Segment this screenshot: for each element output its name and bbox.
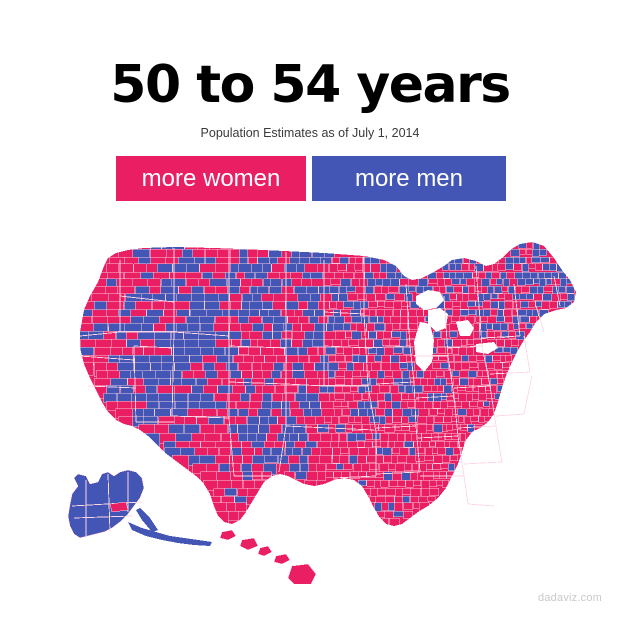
county-cell[interactable]	[460, 279, 466, 284]
county-cell[interactable]	[546, 279, 552, 285]
county-cell[interactable]	[343, 301, 353, 307]
county-cell[interactable]	[285, 448, 293, 456]
county-cell[interactable]	[488, 316, 496, 323]
county-cell[interactable]	[447, 424, 453, 430]
county-cell[interactable]	[404, 441, 413, 447]
county-cell[interactable]	[419, 409, 429, 417]
legend-item-more-men[interactable]: more men	[312, 156, 506, 201]
county-cell[interactable]	[513, 257, 520, 264]
county-cell[interactable]	[560, 279, 566, 287]
county-cell[interactable]	[467, 301, 475, 307]
county-cell[interactable]	[543, 264, 549, 270]
county-cell[interactable]	[303, 448, 312, 455]
county-cell[interactable]	[544, 286, 553, 292]
county-cell[interactable]	[372, 363, 381, 371]
county-cell[interactable]	[402, 416, 409, 423]
county-cell[interactable]	[452, 310, 460, 317]
county-cell[interactable]	[393, 416, 402, 422]
county-cell[interactable]	[426, 416, 434, 424]
county-cell[interactable]	[517, 279, 525, 286]
county-cell[interactable]	[242, 294, 253, 302]
county-cell[interactable]	[539, 249, 546, 255]
county-cell[interactable]	[251, 393, 264, 402]
county-cell[interactable]	[378, 316, 384, 322]
county-cell[interactable]	[362, 424, 372, 433]
legend-item-more-women[interactable]: more women	[116, 156, 306, 201]
county-cell[interactable]	[311, 448, 320, 456]
county-cell[interactable]	[329, 355, 336, 362]
county-cell[interactable]	[511, 249, 520, 256]
county-cell[interactable]	[468, 310, 476, 315]
county-cell[interactable]	[336, 331, 345, 340]
county-cell[interactable]	[424, 371, 431, 378]
county-cell[interactable]	[415, 448, 424, 454]
county-cell[interactable]	[490, 378, 497, 384]
county-cell[interactable]	[452, 316, 460, 321]
county-cell[interactable]	[382, 503, 389, 511]
county-cell[interactable]	[462, 401, 470, 409]
county-cell[interactable]	[249, 331, 262, 340]
county-cell[interactable]	[438, 448, 446, 455]
county-cell[interactable]	[475, 279, 482, 287]
county-cell[interactable]	[278, 416, 286, 424]
county-cell[interactable]	[434, 472, 440, 479]
county-cell[interactable]	[540, 257, 549, 262]
county-cell[interactable]	[417, 416, 426, 423]
county-cell[interactable]	[413, 503, 419, 509]
county-cell[interactable]	[481, 316, 488, 321]
county-cell[interactable]	[440, 464, 448, 469]
county-cell[interactable]	[493, 355, 501, 361]
county-cell[interactable]	[386, 416, 393, 423]
county-cell[interactable]	[321, 401, 334, 409]
county-cell[interactable]	[500, 323, 508, 330]
county-cell[interactable]	[340, 448, 349, 454]
county-cell[interactable]	[381, 363, 390, 371]
county-cell[interactable]	[437, 385, 443, 391]
county-cell[interactable]	[455, 272, 463, 279]
county-cell[interactable]	[527, 294, 534, 299]
county-cell[interactable]	[371, 264, 381, 273]
county-cell[interactable]	[495, 331, 501, 339]
county-cell[interactable]	[460, 433, 466, 441]
county-cell[interactable]	[491, 301, 498, 308]
county-cell[interactable]	[426, 424, 432, 430]
county-cell[interactable]	[379, 272, 386, 279]
county-cell[interactable]	[361, 310, 370, 316]
county-cell[interactable]	[461, 339, 467, 345]
county-cell[interactable]	[522, 264, 528, 272]
county-cell[interactable]	[284, 323, 293, 330]
county-cell[interactable]	[490, 279, 497, 285]
county-cell[interactable]	[330, 301, 336, 308]
county-cell[interactable]	[497, 339, 504, 346]
county-cell[interactable]	[408, 323, 417, 329]
county-cell[interactable]	[326, 464, 336, 470]
county-cell[interactable]	[326, 472, 333, 478]
county-cell[interactable]	[424, 385, 432, 391]
county-cell[interactable]	[292, 323, 301, 331]
county-cell[interactable]	[344, 316, 351, 323]
county-cell[interactable]	[466, 385, 473, 391]
county-cell[interactable]	[459, 393, 466, 401]
county-cell[interactable]	[428, 378, 435, 385]
county-cell[interactable]	[225, 488, 237, 495]
county-cell[interactable]	[350, 409, 358, 418]
county-cell[interactable]	[449, 264, 456, 270]
county-cell[interactable]	[539, 279, 546, 287]
county-cell[interactable]	[497, 378, 503, 383]
county-cell[interactable]	[467, 339, 474, 344]
county-cell[interactable]	[463, 294, 469, 301]
county-cell[interactable]	[388, 433, 398, 442]
county-cell[interactable]	[498, 264, 506, 271]
county-cell[interactable]	[383, 448, 391, 457]
county-cell[interactable]	[434, 424, 442, 432]
county-cell[interactable]	[334, 323, 344, 330]
county-cell[interactable]	[378, 401, 385, 409]
county-cell[interactable]	[347, 363, 354, 371]
county-cell[interactable]	[359, 339, 366, 347]
county-cell[interactable]	[437, 339, 445, 346]
county-cell[interactable]	[430, 409, 438, 415]
county-cell[interactable]	[491, 385, 497, 393]
county-cell[interactable]	[399, 286, 409, 294]
county-cell[interactable]	[500, 355, 506, 362]
county-cell[interactable]	[432, 363, 441, 369]
county-cell[interactable]	[252, 363, 262, 372]
county-cell[interactable]	[392, 448, 400, 454]
county-cell[interactable]	[386, 294, 395, 300]
county-cell[interactable]	[476, 301, 483, 306]
county-cell[interactable]	[338, 264, 346, 271]
county-cell[interactable]	[328, 378, 335, 385]
county-cell[interactable]	[407, 363, 414, 372]
county-cell[interactable]	[526, 242, 532, 248]
county-cell[interactable]	[288, 455, 300, 464]
county-cell[interactable]	[393, 347, 402, 353]
county-cell[interactable]	[333, 455, 341, 463]
us-map-svg[interactable]	[24, 236, 596, 584]
county-cell[interactable]	[440, 286, 446, 293]
county-cell[interactable]	[530, 286, 538, 293]
county-cell[interactable]	[370, 488, 378, 496]
county-cell[interactable]	[288, 316, 300, 324]
county-cell[interactable]	[382, 286, 389, 294]
county-cell[interactable]	[341, 279, 351, 287]
county-cell[interactable]	[364, 363, 372, 372]
county-cell[interactable]	[336, 464, 344, 470]
county-cell[interactable]	[434, 455, 443, 463]
county-cell[interactable]	[511, 339, 519, 346]
alaska-borough-more-women[interactable]	[110, 502, 128, 512]
county-cell[interactable]	[463, 286, 469, 293]
county-cell[interactable]	[390, 385, 398, 394]
county-cell[interactable]	[437, 347, 446, 353]
county-cell[interactable]	[355, 264, 363, 270]
county-cell[interactable]	[355, 416, 361, 422]
county-cell[interactable]	[372, 385, 380, 393]
county-cell[interactable]	[433, 401, 441, 408]
county-cell[interactable]	[369, 316, 377, 323]
county-cell[interactable]	[388, 503, 394, 511]
county-cell[interactable]	[336, 355, 345, 361]
county-cell[interactable]	[259, 424, 270, 433]
county-cell[interactable]	[455, 355, 462, 361]
county-cell[interactable]	[505, 301, 513, 309]
county-cell[interactable]	[532, 249, 539, 256]
county-cell[interactable]	[349, 339, 359, 345]
county-cell[interactable]	[464, 272, 472, 279]
county-cell[interactable]	[459, 347, 467, 355]
county-cell[interactable]	[395, 294, 405, 301]
county-cell[interactable]	[252, 472, 261, 479]
county-cell[interactable]	[436, 371, 444, 376]
county-cell[interactable]	[505, 294, 513, 301]
county-cell[interactable]	[394, 378, 402, 384]
county-cell[interactable]	[252, 464, 264, 472]
county-cell[interactable]	[366, 294, 375, 302]
county-cell[interactable]	[483, 301, 491, 309]
county-cell[interactable]	[399, 448, 408, 456]
county-cell[interactable]	[349, 257, 356, 265]
county-cell[interactable]	[487, 331, 495, 339]
county-cell[interactable]	[393, 323, 400, 329]
county-cell[interactable]	[473, 409, 480, 416]
county-cell[interactable]	[545, 272, 553, 278]
county-cell[interactable]	[478, 401, 484, 407]
county-cell[interactable]	[380, 264, 387, 273]
county-cell[interactable]	[468, 371, 476, 377]
county-cell[interactable]	[515, 286, 521, 294]
county-cell[interactable]	[399, 355, 407, 362]
county-cell[interactable]	[446, 286, 454, 293]
county-cell[interactable]	[458, 409, 467, 415]
county-cell[interactable]	[374, 339, 383, 347]
county-cell[interactable]	[484, 401, 490, 406]
county-cell[interactable]	[492, 272, 500, 279]
county-cell[interactable]	[472, 393, 479, 399]
county-cell[interactable]	[509, 279, 517, 287]
county-cell[interactable]	[446, 448, 454, 456]
county-cell[interactable]	[314, 323, 326, 332]
county-cell[interactable]	[496, 316, 504, 322]
county-cell[interactable]	[236, 503, 246, 512]
county-cell[interactable]	[350, 472, 359, 479]
county-cell[interactable]	[495, 286, 503, 293]
county-cell[interactable]	[393, 409, 403, 417]
county-cell[interactable]	[328, 371, 335, 378]
county-cell[interactable]	[409, 310, 417, 317]
county-cell[interactable]	[378, 488, 386, 495]
county-cell[interactable]	[336, 301, 343, 310]
county-cell[interactable]	[481, 279, 489, 287]
county-cell[interactable]	[402, 393, 409, 400]
county-cell[interactable]	[519, 294, 527, 299]
county-cell[interactable]	[415, 401, 425, 409]
county-cell[interactable]	[330, 286, 339, 293]
county-cell[interactable]	[441, 363, 449, 369]
county-cell[interactable]	[352, 347, 359, 354]
county-cell[interactable]	[434, 416, 443, 422]
county-cell[interactable]	[460, 310, 468, 316]
county-cell[interactable]	[376, 279, 383, 286]
county-cell[interactable]	[382, 339, 389, 345]
county-cell[interactable]	[444, 416, 451, 422]
county-cell[interactable]	[453, 301, 461, 306]
county-cell[interactable]	[378, 371, 385, 379]
county-cell[interactable]	[473, 331, 479, 338]
us-county-choropleth-map[interactable]	[24, 236, 596, 584]
county-cell[interactable]	[531, 272, 538, 279]
county-cell[interactable]	[343, 323, 351, 330]
county-cell[interactable]	[369, 310, 376, 317]
county-cell[interactable]	[384, 301, 394, 307]
county-cell[interactable]	[441, 401, 447, 409]
county-cell[interactable]	[426, 464, 432, 470]
county-cell[interactable]	[483, 310, 490, 317]
county-cell[interactable]	[453, 347, 459, 354]
county-cell[interactable]	[331, 441, 340, 448]
county-cell[interactable]	[525, 279, 533, 285]
county-cell[interactable]	[519, 249, 525, 254]
county-cell[interactable]	[428, 496, 435, 501]
county-cell[interactable]	[384, 378, 394, 385]
county-cell[interactable]	[552, 272, 558, 279]
county-cell[interactable]	[461, 264, 468, 271]
county-cell[interactable]	[393, 371, 402, 379]
county-cell[interactable]	[436, 441, 445, 448]
county-cell[interactable]	[505, 264, 513, 270]
county-cell[interactable]	[250, 401, 262, 409]
county-cell[interactable]	[376, 294, 386, 301]
county-cell[interactable]	[445, 441, 451, 447]
county-cell[interactable]	[447, 401, 455, 406]
county-cell[interactable]	[238, 433, 248, 441]
county-cell[interactable]	[480, 409, 488, 417]
county-cell[interactable]	[443, 272, 449, 278]
county-cell[interactable]	[416, 286, 424, 293]
county-cell[interactable]	[272, 393, 283, 401]
county-cell[interactable]	[534, 294, 543, 300]
county-cell[interactable]	[429, 480, 437, 487]
county-cell[interactable]	[377, 347, 385, 356]
county-cell[interactable]	[352, 355, 359, 362]
county-cell[interactable]	[433, 464, 442, 470]
county-cell[interactable]	[386, 488, 395, 495]
county-cell[interactable]	[258, 409, 271, 417]
county-cell[interactable]	[521, 301, 529, 307]
county-cell[interactable]	[430, 441, 436, 446]
county-cell[interactable]	[484, 294, 490, 300]
county-cell[interactable]	[324, 279, 331, 286]
county-cell[interactable]	[418, 279, 427, 287]
county-cell[interactable]	[395, 464, 405, 472]
county-cell[interactable]	[226, 363, 238, 371]
county-cell[interactable]	[389, 480, 398, 487]
county-cell[interactable]	[405, 433, 412, 441]
county-cell[interactable]	[425, 448, 432, 456]
county-cell[interactable]	[497, 371, 503, 378]
county-cell[interactable]	[558, 286, 565, 292]
county-cell[interactable]	[388, 286, 398, 292]
county-cell[interactable]	[238, 424, 249, 433]
county-cell[interactable]	[236, 401, 249, 409]
county-cell[interactable]	[373, 441, 382, 447]
county-cell[interactable]	[298, 294, 311, 302]
county-cell[interactable]	[467, 409, 473, 416]
county-cell[interactable]	[445, 339, 453, 346]
county-cell[interactable]	[358, 401, 365, 409]
county-cell[interactable]	[317, 264, 329, 273]
county-cell[interactable]	[342, 401, 348, 407]
county-cell[interactable]	[500, 272, 507, 279]
county-cell[interactable]	[375, 480, 381, 489]
county-cell[interactable]	[298, 355, 309, 363]
county-cell[interactable]	[400, 331, 407, 339]
county-cell[interactable]	[534, 279, 540, 284]
county-cell[interactable]	[358, 294, 368, 300]
county-cell[interactable]	[362, 378, 370, 384]
county-cell[interactable]	[408, 416, 418, 422]
county-cell[interactable]	[344, 347, 352, 356]
county-cell[interactable]	[239, 264, 251, 273]
county-cell[interactable]	[467, 347, 474, 355]
county-cell[interactable]	[296, 264, 305, 274]
county-cell[interactable]	[454, 286, 463, 292]
county-cell[interactable]	[358, 385, 365, 393]
county-cell[interactable]	[263, 279, 271, 287]
county-cell[interactable]	[560, 294, 567, 300]
county-cell[interactable]	[447, 393, 453, 401]
county-cell[interactable]	[388, 464, 395, 470]
county-cell[interactable]	[239, 347, 250, 355]
county-cell[interactable]	[261, 401, 272, 409]
county-cell[interactable]	[373, 433, 380, 439]
county-cell[interactable]	[370, 496, 377, 502]
county-cell[interactable]	[228, 286, 240, 294]
county-cell[interactable]	[450, 331, 457, 337]
county-cell[interactable]	[384, 424, 394, 432]
county-cell[interactable]	[445, 301, 453, 308]
county-cell[interactable]	[339, 416, 348, 423]
county-cell[interactable]	[455, 401, 461, 406]
county-cell[interactable]	[354, 363, 363, 372]
county-cell[interactable]	[412, 464, 419, 471]
county-cell[interactable]	[506, 355, 512, 362]
county-cell[interactable]	[466, 393, 472, 401]
county-cell[interactable]	[352, 371, 361, 377]
county-cell[interactable]	[532, 257, 541, 263]
county-cell[interactable]	[335, 316, 345, 324]
county-cell[interactable]	[485, 355, 492, 363]
county-cell[interactable]	[543, 294, 552, 301]
county-cell[interactable]	[385, 310, 393, 317]
county-cell[interactable]	[417, 371, 424, 378]
county-cell[interactable]	[317, 472, 325, 481]
county-cell[interactable]	[558, 301, 565, 308]
county-cell[interactable]	[354, 393, 361, 401]
county-cell[interactable]	[374, 355, 381, 361]
county-cell[interactable]	[376, 455, 383, 464]
county-cell[interactable]	[391, 355, 400, 363]
county-cell[interactable]	[338, 363, 347, 369]
county-cell[interactable]	[306, 393, 319, 402]
county-cell[interactable]	[367, 480, 375, 486]
county-cell[interactable]	[351, 316, 361, 323]
county-cell[interactable]	[352, 331, 361, 340]
county-cell[interactable]	[229, 331, 242, 339]
